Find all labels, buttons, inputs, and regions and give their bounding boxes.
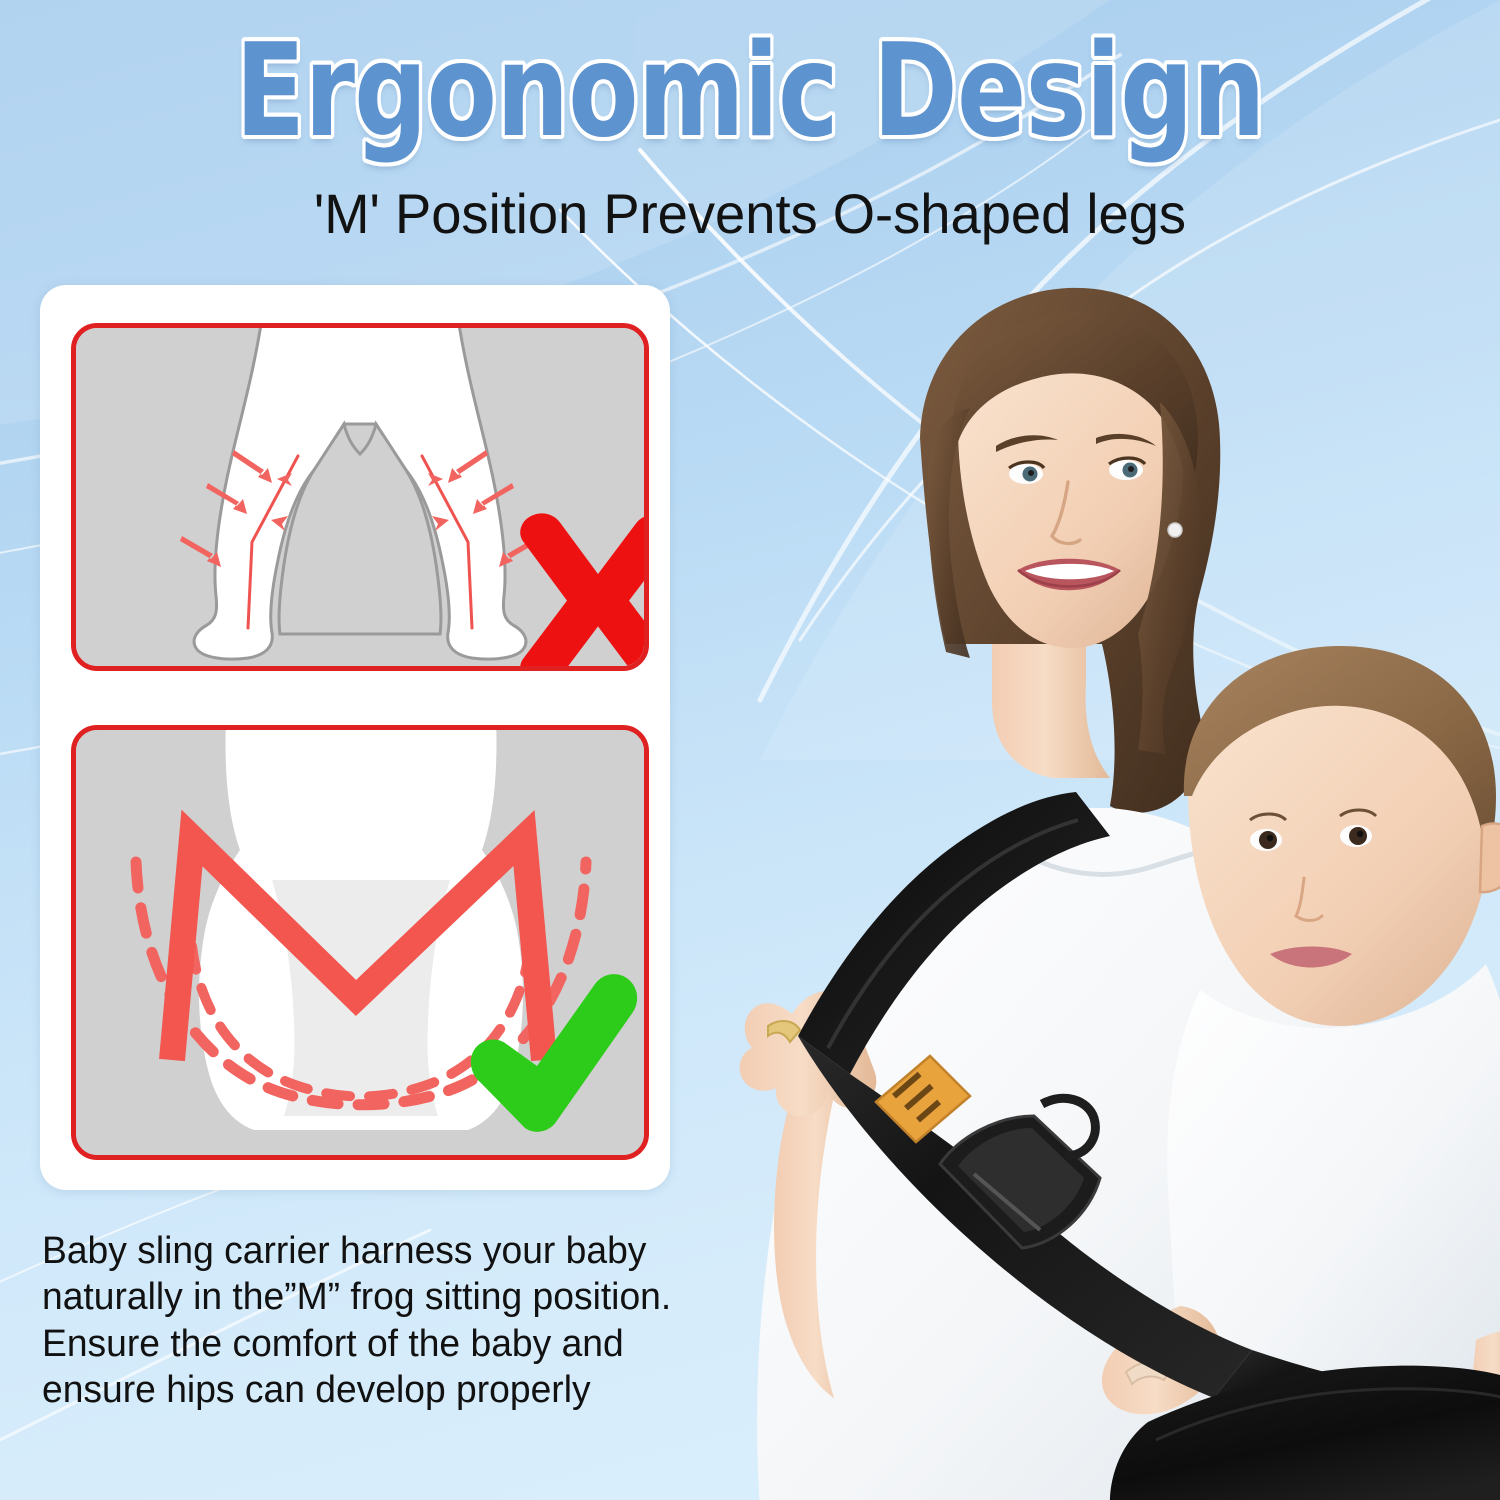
m-position-illustration [76, 730, 644, 1155]
lifestyle-photo [640, 230, 1500, 1500]
header: Ergonomic Design [0, 28, 1500, 156]
o-legs-illustration [76, 328, 644, 666]
o-shaped-legs-panel [71, 323, 649, 671]
product-infographic: Ergonomic Design 'M' Position Prevents O… [0, 0, 1500, 1500]
m-position-panel [71, 725, 649, 1160]
diagram-card [40, 285, 670, 1190]
page-title: Ergonomic Design [150, 28, 1350, 156]
product-description-text: Baby sling carrier harness your baby nat… [42, 1228, 689, 1413]
